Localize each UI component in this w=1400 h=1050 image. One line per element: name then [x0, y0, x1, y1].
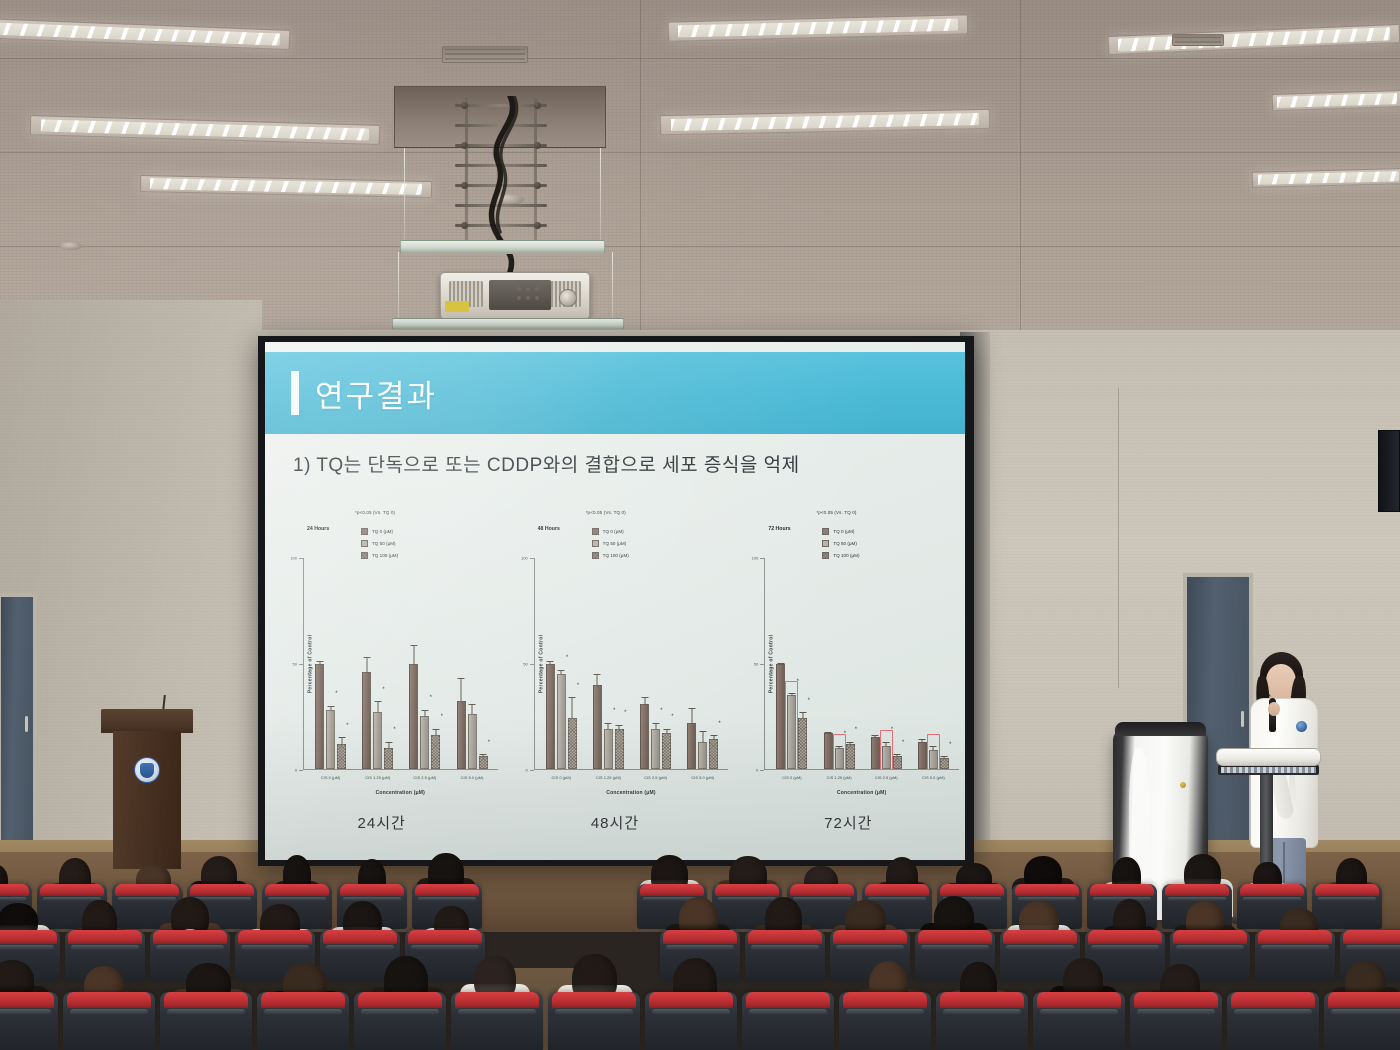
- legend-item: TQ 0 (μM): [361, 528, 398, 535]
- error-bar: [666, 729, 667, 733]
- x-tick-label: CIS 2.5 (μM): [875, 775, 898, 780]
- error-bar: [702, 731, 703, 742]
- significance-marker: *: [488, 740, 490, 746]
- bar-slot: *: [604, 558, 613, 769]
- y-tick-label: 0: [525, 768, 527, 773]
- chart-significance-note: *p<0.05 (Vs. TQ 0): [816, 510, 856, 515]
- bar-slot: *: [373, 558, 382, 769]
- caption-48h: 48시간: [498, 812, 731, 846]
- x-axis: [764, 769, 959, 770]
- error-bar: [608, 723, 609, 729]
- ceiling: [0, 0, 1400, 350]
- error-bar: [424, 710, 425, 716]
- bar-slot: *: [846, 558, 855, 769]
- legend-item: TQ 50 (μM): [361, 540, 398, 547]
- bar-groups: **CIS 0 (μM)**CIS 1.25 (μM)**CIS 2.5 (μM…: [538, 558, 727, 769]
- title-accent-bar: [291, 371, 299, 415]
- error-bar: [791, 693, 792, 695]
- error-bar: [597, 674, 598, 685]
- error-bar: [850, 742, 851, 744]
- legend-label: TQ 50 (μM): [833, 541, 857, 546]
- bar: [918, 742, 927, 769]
- bar: [662, 733, 671, 769]
- bar: [798, 718, 807, 769]
- projector-label: [445, 301, 469, 312]
- slide-captions: 24시간 48시간 72시간: [265, 812, 965, 846]
- auditorium-seat[interactable]: [936, 992, 1028, 1050]
- legend-item: TQ 50 (μM): [822, 540, 859, 547]
- error-bar: [839, 746, 840, 748]
- auditorium-seat[interactable]: [160, 992, 252, 1050]
- charts-container: *p<0.05 (Vs. TQ 0) 24 Hours TQ 0 (μM) TQ…: [273, 510, 965, 810]
- significance-marker: *: [671, 714, 673, 720]
- bar-groups: **CIS 0 (μM)**CIS 1.25 (μM)**CIS 2.5 (μM…: [768, 558, 957, 769]
- bar: [431, 735, 440, 769]
- bar: [457, 701, 466, 769]
- legend-label: TQ 0 (μM): [603, 529, 624, 534]
- bar-slot: *: [479, 558, 488, 769]
- chart-plot-area: Percentage of Control 100 50 0 **CIS 0 (…: [534, 558, 729, 770]
- auditorium-seat[interactable]: [0, 992, 58, 1050]
- projector-lift-shelf: [400, 240, 605, 254]
- y-tick-label: 50: [754, 662, 758, 667]
- bar: [698, 742, 707, 769]
- caption-72h: 72시간: [732, 812, 965, 846]
- bar-group: **CIS 0 (μM): [315, 558, 346, 769]
- bar: [687, 723, 696, 769]
- chart-72-hours: *p<0.05 (Vs. TQ 0) 72 Hours TQ 0 (μM) TQ…: [734, 510, 965, 810]
- bar: [373, 712, 382, 769]
- bar: [882, 746, 891, 769]
- bar-slot: [918, 558, 927, 769]
- bar-group: **CIS 1.25 (μM): [362, 558, 393, 769]
- bar: [615, 729, 624, 769]
- bar: [929, 750, 938, 769]
- scissor-lift: [455, 98, 547, 248]
- error-bar: [472, 704, 473, 715]
- x-axis: [303, 769, 498, 770]
- x-tick-label: CIS 1.25 (μM): [596, 775, 621, 780]
- x-tick-label: CIS 5.0 (μM): [461, 775, 484, 780]
- error-bar: [944, 756, 945, 758]
- slide-header: 연구결과: [265, 352, 965, 434]
- bar: [420, 716, 429, 769]
- bar: [593, 685, 602, 769]
- chart-significance-note: *p<0.05 (Vs. TQ 0): [355, 510, 395, 515]
- bar-slot: *: [798, 558, 807, 769]
- error-bar: [330, 706, 331, 710]
- error-bar: [828, 732, 829, 733]
- bar-slot: *: [326, 558, 335, 769]
- x-axis-label: Concentration (μM): [303, 790, 498, 796]
- bar: [568, 718, 577, 769]
- legend-swatch-tq50: [822, 540, 829, 547]
- bar: [709, 739, 718, 769]
- bar-slot: [824, 558, 833, 769]
- bar-slot: [315, 558, 324, 769]
- bar-group: **CIS 0 (μM): [546, 558, 577, 769]
- bar-slot: *: [431, 558, 440, 769]
- audience-seating: [0, 896, 1400, 1050]
- bar-group: *CIS 5.0 (μM): [457, 558, 488, 769]
- x-tick-label: CIS 5.0 (μM): [691, 775, 714, 780]
- legend-swatch-tq0: [822, 528, 829, 535]
- bar-slot: [409, 558, 418, 769]
- legend-item: TQ 0 (μM): [822, 528, 859, 535]
- error-bar: [875, 735, 876, 737]
- bar-group: **CIS 2.5 (μM): [871, 558, 902, 769]
- bar-group: **CIS 1.25 (μM): [824, 558, 855, 769]
- error-bar: [341, 737, 342, 743]
- error-bar: [483, 754, 484, 756]
- bar: [824, 733, 833, 769]
- presenter-hand: [1268, 702, 1280, 716]
- x-tick-label: CIS 0 (μM): [782, 775, 801, 780]
- error-bar: [644, 697, 645, 703]
- bar-slot: [546, 558, 555, 769]
- slide-title: 연구결과: [315, 371, 437, 416]
- chart-24-hours: *p<0.05 (Vs. TQ 0) 24 Hours TQ 0 (μM) TQ…: [273, 510, 504, 810]
- x-tick-label: CIS 0 (μM): [321, 775, 340, 780]
- bar: [640, 704, 649, 769]
- bar-slot: *: [893, 558, 902, 769]
- y-tick-label: 50: [523, 662, 527, 667]
- ceiling-vent: [1172, 34, 1224, 46]
- chart-significance-note: *p<0.05 (Vs. TQ 0): [586, 510, 626, 515]
- bar-slot: *: [940, 558, 949, 769]
- error-bar: [550, 661, 551, 663]
- error-bar: [461, 678, 462, 701]
- significance-marker: *: [949, 742, 951, 748]
- significance-marker: *: [346, 723, 348, 729]
- error-bar: [780, 663, 781, 664]
- chart-title: 72 Hours: [768, 526, 790, 532]
- y-tick-label: 0: [756, 768, 758, 773]
- bar-slot: *: [709, 558, 718, 769]
- y-axis: [534, 558, 535, 770]
- bar-slot: *: [420, 558, 429, 769]
- bar: [787, 695, 796, 769]
- lab-coat-badge-icon: [1296, 721, 1307, 732]
- auditorium-seat[interactable]: [745, 930, 825, 982]
- bar: [479, 756, 488, 769]
- bar-slot: [362, 558, 371, 769]
- bar-slot: *: [882, 558, 891, 769]
- power-indicator-icon: [1180, 782, 1186, 788]
- projection-screen: 연구결과 1) TQ는 단독으로 또는 CDDP와의 결합으로 세포 증식을 억…: [265, 342, 965, 860]
- bar-slot: *: [384, 558, 393, 769]
- error-bar: [897, 754, 898, 756]
- auditorium-seat[interactable]: [354, 992, 446, 1050]
- auditorium-seat[interactable]: [1324, 992, 1400, 1050]
- error-bar: [561, 670, 562, 674]
- lectern-body: [113, 731, 181, 869]
- bar: [326, 710, 335, 769]
- error-bar: [435, 729, 436, 735]
- bar-slot: [687, 558, 696, 769]
- chart-48-hours: *p<0.05 (Vs. TQ 0) 48 Hours TQ 0 (μM) TQ…: [504, 510, 735, 810]
- chart-title: 24 Hours: [307, 526, 329, 532]
- chart-plot-area: Percentage of Control 100 50 0 **CIS 0 (…: [764, 558, 959, 770]
- legend-label: TQ 50 (μM): [603, 541, 627, 546]
- significance-marker: *: [441, 714, 443, 720]
- error-bar: [619, 725, 620, 729]
- auditorium-seat[interactable]: [1255, 930, 1335, 982]
- caption-24h: 24시간: [265, 812, 498, 846]
- bar-group: *CIS 5.0 (μM): [687, 558, 718, 769]
- bar: [409, 664, 418, 770]
- auditorium-seat[interactable]: [1130, 992, 1222, 1050]
- bar: [384, 748, 393, 769]
- x-tick-label: CIS 0 (μM): [552, 775, 571, 780]
- x-tick-label: CIS 1.25 (μM): [827, 775, 852, 780]
- error-bar: [319, 661, 320, 663]
- error-bar: [922, 739, 923, 741]
- y-axis: [303, 558, 304, 770]
- bar-slot: *: [835, 558, 844, 769]
- legend-swatch-tq50: [361, 540, 368, 547]
- bar: [604, 729, 613, 769]
- significance-marker: *: [808, 698, 810, 704]
- error-bar: [572, 697, 573, 718]
- legend-swatch-tq0: [592, 528, 599, 535]
- auditorium-seat[interactable]: [645, 992, 737, 1050]
- legend-label: TQ 50 (μM): [372, 541, 396, 546]
- bar-slot: [468, 558, 477, 769]
- legend-label: TQ 0 (μM): [833, 529, 854, 534]
- projector-lens: [559, 289, 577, 307]
- error-bar: [691, 708, 692, 723]
- bar-group: **CIS 0 (μM): [776, 558, 807, 769]
- lecture-hall-photo: 연구결과 1) TQ는 단독으로 또는 CDDP와의 결합으로 세포 증식을 억…: [0, 0, 1400, 1050]
- bar-slot: *: [568, 558, 577, 769]
- significance-marker: *: [393, 727, 395, 733]
- auditorium-seat[interactable]: [1227, 992, 1319, 1050]
- bar: [846, 744, 855, 769]
- significance-marker: *: [718, 721, 720, 727]
- legend-swatch-tq0: [361, 528, 368, 535]
- bar-slot: *: [651, 558, 660, 769]
- x-axis-label: Concentration (μM): [764, 790, 959, 796]
- bar-slot: [929, 558, 938, 769]
- error-bar: [933, 746, 934, 750]
- x-tick-label: CIS 2.5 (μM): [644, 775, 667, 780]
- auditorium-seat[interactable]: [1033, 992, 1125, 1050]
- bar: [651, 729, 660, 769]
- chart-plot-area: Percentage of Control 100 50 0 **CIS 0 (…: [303, 558, 498, 770]
- presentation-slide: 연구결과 1) TQ는 단독으로 또는 CDDP와의 결합으로 세포 증식을 억…: [265, 342, 965, 860]
- bar-group: **CIS 2.5 (μM): [640, 558, 671, 769]
- error-bar: [713, 735, 714, 739]
- wall-seam: [1118, 388, 1119, 688]
- y-tick-label: 100: [290, 556, 297, 561]
- bar: [546, 664, 555, 770]
- bar-slot: [457, 558, 466, 769]
- university-emblem-icon: [134, 757, 160, 783]
- y-tick-label: 100: [521, 556, 528, 561]
- lectern-top: [101, 709, 193, 733]
- bar-group: **CIS 1.25 (μM): [593, 558, 624, 769]
- legend-item: TQ 50 (μM): [592, 540, 629, 547]
- bar-slot: [776, 558, 785, 769]
- auditorium-seat[interactable]: [63, 992, 155, 1050]
- error-bar: [366, 657, 367, 672]
- auditorium-seat[interactable]: [742, 992, 834, 1050]
- bar-slot: *: [787, 558, 796, 769]
- bar-slot: *: [557, 558, 566, 769]
- wooden-lectern: [101, 709, 193, 869]
- bar: [871, 737, 880, 769]
- ceiling-vent: [442, 46, 528, 63]
- x-tick-label: CIS 2.5 (μM): [414, 775, 437, 780]
- y-tick-label: 0: [295, 768, 297, 773]
- ceiling-projector: [440, 272, 590, 320]
- bar: [557, 674, 566, 769]
- auditorium-seat[interactable]: [839, 992, 931, 1050]
- significance-marker: *: [577, 683, 579, 689]
- bar-slot: *: [337, 558, 346, 769]
- error-bar: [655, 723, 656, 729]
- y-tick-label: 50: [293, 662, 297, 667]
- bar: [776, 664, 785, 770]
- bar-slot: [698, 558, 707, 769]
- y-axis: [764, 558, 765, 770]
- wall-display-panel: [1378, 430, 1400, 512]
- y-tick-label: 100: [752, 556, 759, 561]
- significance-marker: *: [624, 710, 626, 716]
- bar-slot: *: [662, 558, 671, 769]
- bar: [315, 664, 324, 770]
- error-bar: [413, 645, 414, 664]
- legend-item: TQ 0 (μM): [592, 528, 629, 535]
- bar-slot: *: [615, 558, 624, 769]
- bar-groups: **CIS 0 (μM)**CIS 1.25 (μM)**CIS 2.5 (μM…: [307, 558, 496, 769]
- auditorium-seat[interactable]: [451, 992, 543, 1050]
- significance-marker: *: [855, 727, 857, 733]
- bar-slot: [640, 558, 649, 769]
- chart-title: 48 Hours: [538, 526, 560, 532]
- bar: [362, 672, 371, 769]
- x-axis: [534, 769, 729, 770]
- error-bar: [377, 701, 378, 712]
- x-tick-label: CIS 1.25 (μM): [365, 775, 390, 780]
- podium-light-strip: [1218, 765, 1319, 775]
- ceiling-smoke-detector: [60, 242, 82, 250]
- legend-label: TQ 0 (μM): [372, 529, 393, 534]
- bar: [940, 758, 949, 769]
- legend-swatch-tq50: [592, 540, 599, 547]
- auditorium-seat[interactable]: [548, 992, 640, 1050]
- significance-marker: *: [902, 740, 904, 746]
- bar-slot: [871, 558, 880, 769]
- x-tick-label: CIS 5.0 (μM): [922, 775, 945, 780]
- bar: [893, 756, 902, 769]
- error-bar: [886, 742, 887, 746]
- error-bar: [388, 742, 389, 748]
- x-axis-label: Concentration (μM): [534, 790, 729, 796]
- ceiling-texture: [0, 0, 1400, 350]
- error-bar: [802, 712, 803, 718]
- podium-surface: [1216, 748, 1321, 766]
- bar: [468, 714, 477, 769]
- projector-mount-plate: [392, 318, 624, 330]
- bar-group: *CIS 5.0 (μM): [918, 558, 949, 769]
- auditorium-seat[interactable]: [1312, 884, 1382, 929]
- bar: [835, 748, 844, 769]
- bar-group: **CIS 2.5 (μM): [409, 558, 440, 769]
- slide-subtitle: 1) TQ는 단독으로 또는 CDDP와의 결합으로 세포 증식을 억제: [293, 450, 800, 477]
- bar-slot: [593, 558, 602, 769]
- auditorium-seat[interactable]: [257, 992, 349, 1050]
- bar: [337, 744, 346, 769]
